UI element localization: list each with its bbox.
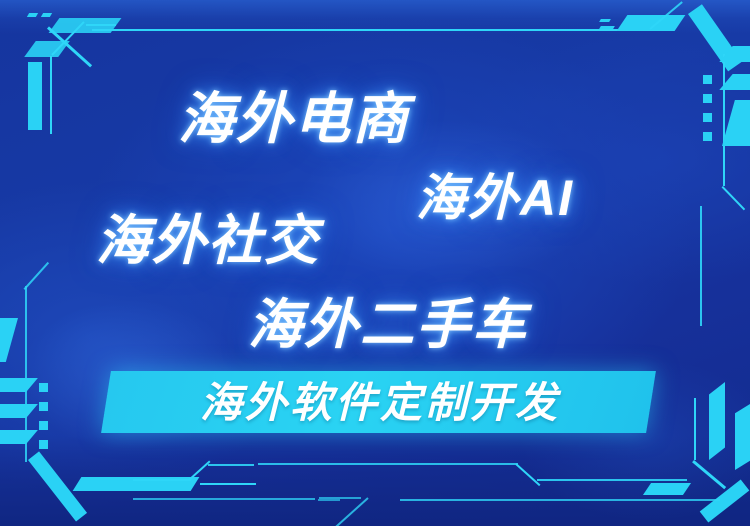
keyword-ecommerce: 海外电商	[178, 74, 410, 155]
keyword-ai: 海外AI	[416, 158, 574, 230]
keyword-text-layer: 海外电商 海外AI 海外社交 海外二手车	[0, 0, 750, 526]
keyword-usedcar: 海外二手车	[248, 280, 528, 359]
promo-banner: 海外电商 海外AI 海外社交 海外二手车 海外软件定制开发	[0, 0, 750, 526]
keyword-social: 海外社交	[96, 196, 320, 275]
cta-banner-label: 海外软件定制开发	[122, 374, 638, 432]
